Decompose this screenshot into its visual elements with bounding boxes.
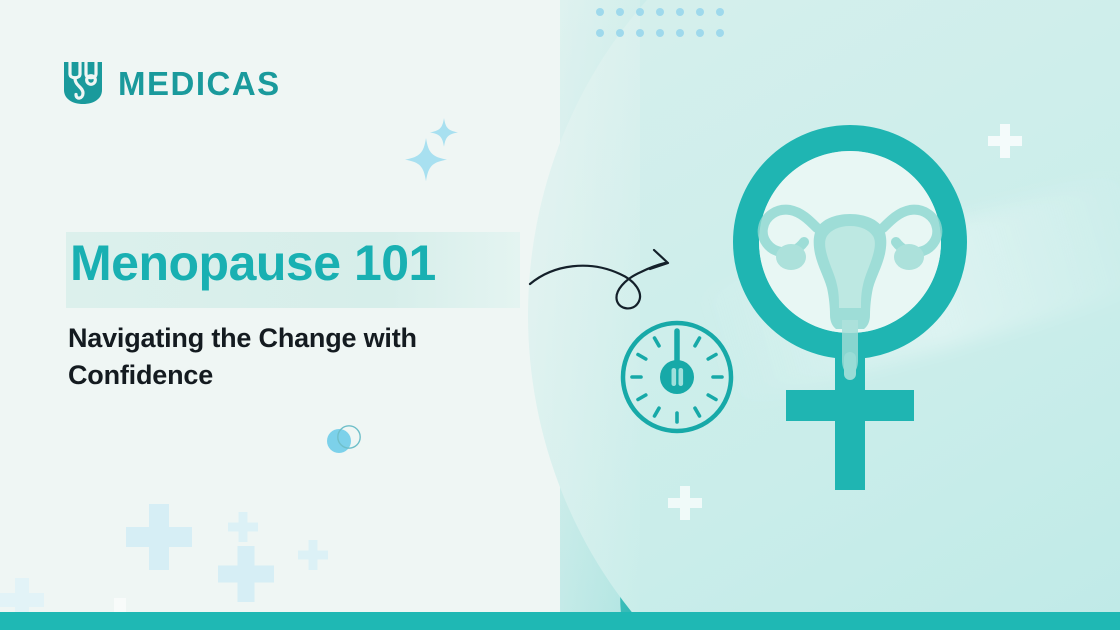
- pills-icon: [324, 424, 364, 461]
- brand-logo[interactable]: MEDICAS: [62, 60, 281, 106]
- dot: [636, 8, 644, 16]
- medical-cross-icon: [228, 512, 258, 547]
- medical-cross-icon: [126, 504, 192, 575]
- brand-name: MEDICAS: [118, 67, 281, 100]
- dot: [616, 29, 624, 37]
- female-venus-symbol-icon: [716, 118, 984, 495]
- dot: [616, 8, 624, 16]
- medical-cross-icon: [668, 486, 702, 525]
- page-subtitle: Navigating the Change with Confidence: [68, 320, 538, 395]
- dot: [596, 8, 604, 16]
- stethoscope-shield-icon: [62, 60, 104, 106]
- dot-grid-pattern: [596, 8, 736, 50]
- dot: [716, 29, 724, 37]
- sparkle-icon: [404, 112, 484, 189]
- medical-cross-icon: [988, 124, 1022, 163]
- medical-cross-icon: [218, 546, 274, 607]
- dot: [676, 8, 684, 16]
- dot: [636, 29, 644, 37]
- dot: [696, 29, 704, 37]
- page-title: Menopause 101: [66, 228, 446, 299]
- dot: [696, 8, 704, 16]
- dot: [596, 29, 604, 37]
- hero-banner: MEDICAS Menopause 101 Navigating the Cha…: [0, 0, 1120, 630]
- clock-icon: [610, 310, 744, 449]
- dot: [716, 8, 724, 16]
- dot: [656, 29, 664, 37]
- dot: [676, 29, 684, 37]
- dot: [656, 8, 664, 16]
- medical-cross-icon: [298, 540, 328, 575]
- headline-container: Menopause 101: [66, 228, 446, 299]
- bottom-accent-bar: [0, 612, 1120, 630]
